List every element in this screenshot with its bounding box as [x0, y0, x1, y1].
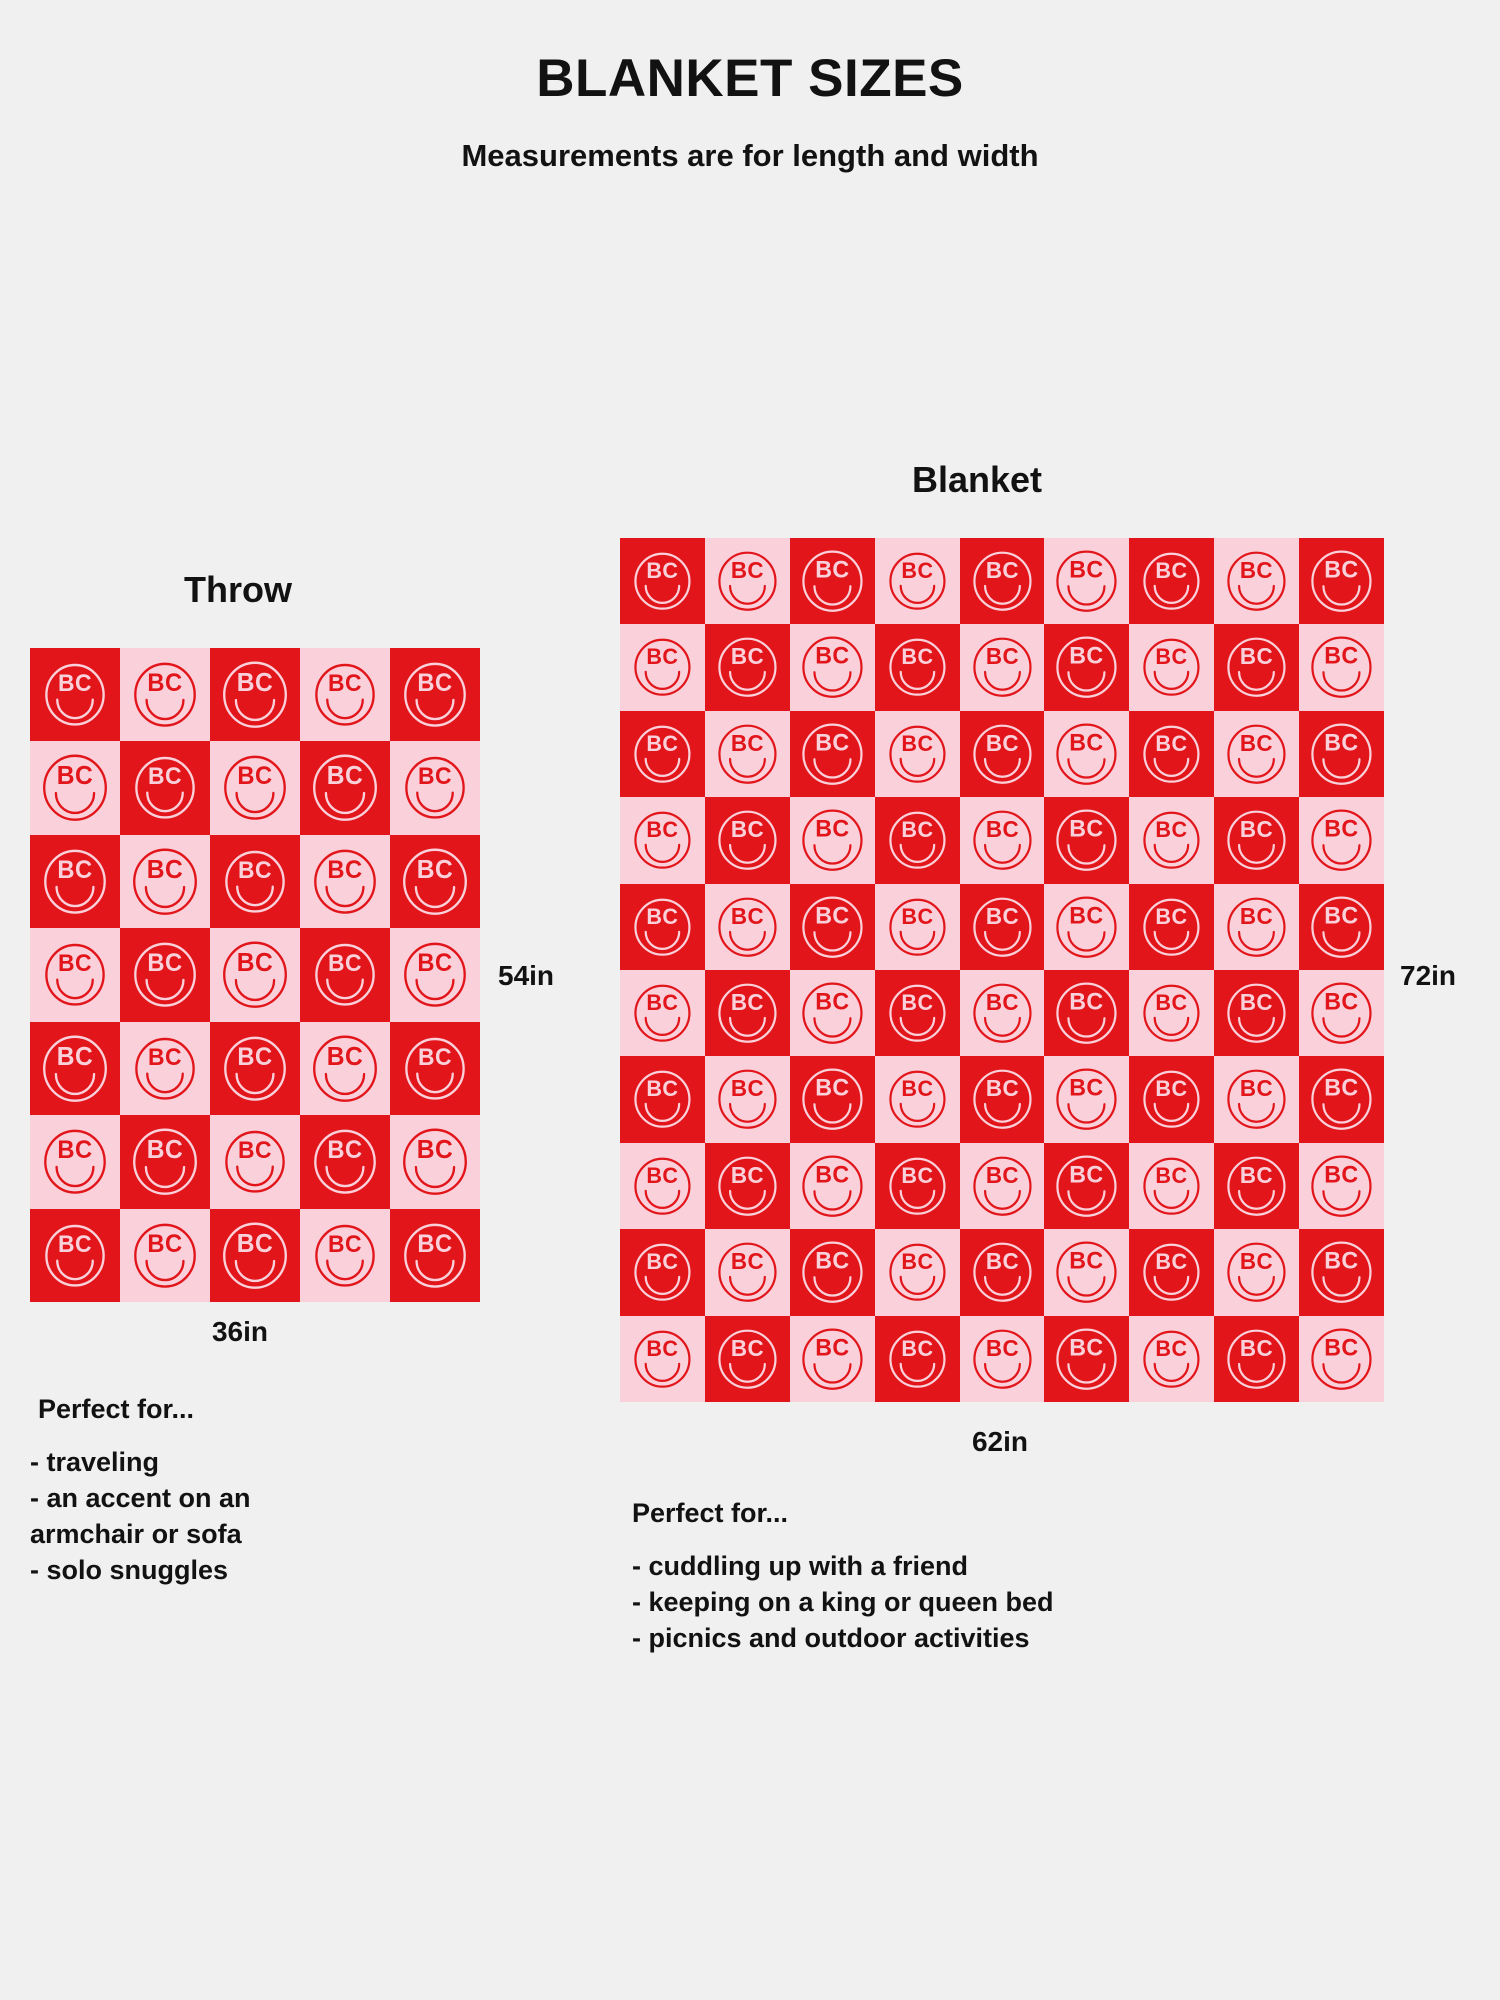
- blanket-tile: BC: [960, 797, 1045, 883]
- motif-label: BC: [1324, 988, 1358, 1014]
- smiley-face-icon: BC: [875, 1143, 960, 1229]
- blanket-tile: BC: [705, 970, 790, 1056]
- motif-label: BC: [1070, 643, 1104, 669]
- motif-label: BC: [901, 558, 933, 583]
- motif-label: BC: [328, 950, 362, 976]
- blanket-tile: BC: [1299, 1316, 1384, 1402]
- smiley-face-icon: BC: [1129, 1229, 1214, 1315]
- smiley-face-icon: BC: [120, 1115, 210, 1208]
- motif-label: BC: [1324, 1075, 1358, 1101]
- motif-label: BC: [731, 1076, 764, 1101]
- smiley-face-icon: BC: [120, 741, 210, 834]
- motif-label: BC: [646, 1249, 678, 1274]
- blanket-tile: BC: [790, 1143, 875, 1229]
- motif-label: BC: [1156, 731, 1188, 756]
- smiley-face-icon: BC: [960, 1316, 1045, 1402]
- smiley-face-icon: BC: [620, 538, 705, 624]
- blanket-tile: BC: [1299, 797, 1384, 883]
- motif-label: BC: [1070, 1075, 1104, 1101]
- motif-label: BC: [238, 1137, 272, 1163]
- blanket-tile: BC: [1044, 797, 1129, 883]
- motif-label: BC: [901, 644, 933, 669]
- smiley-face-icon: BC: [120, 1022, 210, 1115]
- blanket-tile: BC: [960, 1229, 1045, 1315]
- blanket-tile: BC: [705, 1229, 790, 1315]
- blanket-tile: BC: [390, 1022, 480, 1115]
- motif-label: BC: [237, 668, 273, 697]
- blanket-tile: BC: [960, 711, 1045, 797]
- smiley-face-icon: BC: [300, 648, 390, 741]
- smiley-face-icon: BC: [1214, 797, 1299, 883]
- blanket-tile: BC: [1129, 884, 1214, 970]
- smiley-face-icon: BC: [300, 928, 390, 1021]
- blanket-tile: BC: [210, 1115, 300, 1208]
- blanket-tile: BC: [620, 970, 705, 1056]
- blanket-tile: BC: [120, 835, 210, 928]
- smiley-face-icon: BC: [1214, 711, 1299, 797]
- smiley-face-icon: BC: [30, 741, 120, 834]
- smiley-face-icon: BC: [30, 648, 120, 741]
- motif-label: BC: [147, 855, 183, 884]
- motif-label: BC: [58, 950, 92, 976]
- smiley-face-icon: BC: [620, 1056, 705, 1142]
- smiley-face-icon: BC: [30, 1209, 120, 1302]
- smiley-face-icon: BC: [210, 648, 300, 741]
- motif-label: BC: [418, 763, 452, 789]
- smiley-face-icon: BC: [875, 970, 960, 1056]
- blanket-tile: BC: [875, 884, 960, 970]
- smiley-face-icon: BC: [875, 1316, 960, 1402]
- blanket-tile: BC: [875, 797, 960, 883]
- blanket-tile: BC: [1299, 1143, 1384, 1229]
- smiley-face-icon: BC: [705, 538, 790, 624]
- motif-label: BC: [731, 644, 764, 669]
- motif-label: BC: [57, 762, 93, 791]
- smiley-face-icon: BC: [300, 1022, 390, 1115]
- motif-label: BC: [58, 1230, 92, 1256]
- smiley-face-icon: BC: [210, 1209, 300, 1302]
- motif-label: BC: [237, 1043, 272, 1071]
- motif-label: BC: [1324, 1334, 1358, 1360]
- blanket-tile: BC: [300, 741, 390, 834]
- smiley-face-icon: BC: [960, 1229, 1045, 1315]
- blanket-tile: BC: [1299, 970, 1384, 1056]
- blanket-tile: BC: [875, 538, 960, 624]
- blanket-tile: BC: [1129, 1316, 1214, 1402]
- motif-label: BC: [1070, 902, 1104, 928]
- motif-label: BC: [237, 949, 273, 978]
- blanket-tile: BC: [120, 741, 210, 834]
- motif-label: BC: [901, 1163, 933, 1188]
- smiley-face-icon: BC: [1044, 970, 1129, 1056]
- motif-label: BC: [1240, 990, 1273, 1015]
- blanket-tile: BC: [210, 1209, 300, 1302]
- blanket-tile: BC: [705, 1316, 790, 1402]
- blanket-tile: BC: [30, 928, 120, 1021]
- motif-label: BC: [327, 1137, 362, 1164]
- motif-label: BC: [646, 990, 678, 1015]
- smiley-face-icon: BC: [1299, 1056, 1384, 1142]
- throw-width-label: 36in: [0, 1318, 480, 1346]
- smiley-face-icon: BC: [960, 884, 1045, 970]
- blanket-tile: BC: [1214, 1143, 1299, 1229]
- motif-label: BC: [1240, 1335, 1273, 1360]
- blanket-tile: BC: [875, 1143, 960, 1229]
- motif-label: BC: [1240, 644, 1273, 669]
- smiley-face-icon: BC: [705, 797, 790, 883]
- blanket-tile: BC: [960, 1056, 1045, 1142]
- blanket-tile: BC: [705, 797, 790, 883]
- motif-label: BC: [1240, 1076, 1273, 1101]
- motif-label: BC: [646, 644, 678, 669]
- motif-label: BC: [1156, 1249, 1188, 1274]
- blanket-tile: BC: [620, 797, 705, 883]
- motif-label: BC: [147, 670, 182, 697]
- blanket-tile: BC: [30, 1022, 120, 1115]
- blanket-tile: BC: [620, 1143, 705, 1229]
- blanket-tile: BC: [120, 928, 210, 1021]
- motif-label: BC: [815, 816, 849, 842]
- throw-blanket-swatch: BC BC BC BC BC BC BC BC BC: [30, 648, 480, 1302]
- blanket-tile: BC: [300, 1209, 390, 1302]
- motif-label: BC: [731, 1335, 764, 1360]
- blanket-tile: BC: [30, 1115, 120, 1208]
- throw-perfect-for: Perfect for... - traveling - an accent o…: [30, 1396, 251, 1589]
- smiley-face-icon: BC: [960, 1056, 1045, 1142]
- throw-title: Throw: [184, 572, 292, 608]
- blanket-tile: BC: [620, 1056, 705, 1142]
- blanket-tile: BC: [960, 624, 1045, 710]
- motif-label: BC: [1156, 990, 1188, 1015]
- blanket-tile: BC: [1214, 538, 1299, 624]
- motif-label: BC: [646, 1163, 678, 1188]
- motif-label: BC: [815, 988, 849, 1014]
- smiley-face-icon: BC: [210, 741, 300, 834]
- smiley-face-icon: BC: [705, 970, 790, 1056]
- smiley-face-icon: BC: [620, 797, 705, 883]
- motif-label: BC: [901, 1249, 933, 1274]
- motif-label: BC: [327, 762, 363, 791]
- motif-label: BC: [1240, 1249, 1273, 1274]
- smiley-face-icon: BC: [1129, 797, 1214, 883]
- motif-label: BC: [1240, 817, 1273, 842]
- motif-label: BC: [148, 1043, 182, 1069]
- blanket-tile: BC: [790, 538, 875, 624]
- smiley-face-icon: BC: [1214, 970, 1299, 1056]
- blanket-tile: BC: [1214, 797, 1299, 883]
- blanket-tile: BC: [1129, 538, 1214, 624]
- smiley-face-icon: BC: [875, 711, 960, 797]
- smiley-face-icon: BC: [620, 884, 705, 970]
- smiley-face-icon: BC: [390, 1022, 480, 1115]
- blanket-width-label: 62in: [620, 1428, 1380, 1456]
- blanket-tile: BC: [1129, 1143, 1214, 1229]
- smiley-face-icon: BC: [790, 970, 875, 1056]
- smiley-face-icon: BC: [1129, 624, 1214, 710]
- blanket-tile: BC: [705, 624, 790, 710]
- blanket-tile: BC: [960, 1316, 1045, 1402]
- smiley-face-icon: BC: [1044, 624, 1129, 710]
- motif-label: BC: [1070, 1161, 1104, 1187]
- motif-label: BC: [417, 950, 452, 977]
- motif-label: BC: [1156, 903, 1188, 928]
- smiley-face-icon: BC: [1299, 970, 1384, 1056]
- blanket-tile: BC: [1299, 711, 1384, 797]
- smiley-face-icon: BC: [705, 1143, 790, 1229]
- blanket-perfect-for-item: - picnics and outdoor activities: [632, 1621, 1054, 1657]
- blanket-tile: BC: [790, 797, 875, 883]
- smiley-face-icon: BC: [30, 835, 120, 928]
- motif-label: BC: [901, 1335, 933, 1360]
- smiley-face-icon: BC: [705, 1229, 790, 1315]
- motif-label: BC: [1324, 1248, 1358, 1274]
- smiley-face-icon: BC: [1214, 1229, 1299, 1315]
- smiley-face-icon: BC: [1214, 1316, 1299, 1402]
- motif-label: BC: [815, 1161, 849, 1187]
- blanket-tile: BC: [300, 1115, 390, 1208]
- smiley-face-icon: BC: [960, 970, 1045, 1056]
- smiley-face-icon: BC: [390, 1209, 480, 1302]
- smiley-face-icon: BC: [120, 928, 210, 1021]
- blanket-tile: BC: [210, 928, 300, 1021]
- smiley-face-icon: BC: [30, 1115, 120, 1208]
- motif-label: BC: [1070, 816, 1104, 842]
- blanket-tile: BC: [30, 835, 120, 928]
- blanket-tile: BC: [1044, 1316, 1129, 1402]
- smiley-face-icon: BC: [790, 711, 875, 797]
- smiley-face-icon: BC: [1044, 1143, 1129, 1229]
- motif-label: BC: [731, 730, 764, 755]
- smiley-face-icon: BC: [790, 1056, 875, 1142]
- blanket-tile: BC: [30, 1209, 120, 1302]
- smiley-face-icon: BC: [390, 648, 480, 741]
- blanket-tile: BC: [1129, 711, 1214, 797]
- motif-label: BC: [1240, 558, 1273, 583]
- smiley-face-icon: BC: [875, 538, 960, 624]
- smiley-face-icon: BC: [1044, 711, 1129, 797]
- blanket-tile: BC: [1129, 1229, 1214, 1315]
- motif-label: BC: [731, 1249, 764, 1274]
- motif-label: BC: [147, 1136, 183, 1165]
- motif-label: BC: [985, 730, 1018, 755]
- blanket-size-guide: BLANKET SIZES Measurements are for lengt…: [0, 0, 1500, 2000]
- smiley-face-icon: BC: [620, 711, 705, 797]
- blanket-swatch: BC BC BC BC BC BC BC BC BC: [620, 538, 1384, 1402]
- smiley-face-icon: BC: [300, 1209, 390, 1302]
- blanket-tile: BC: [1214, 970, 1299, 1056]
- blanket-tile: BC: [790, 884, 875, 970]
- motif-label: BC: [417, 1230, 452, 1258]
- motif-label: BC: [417, 1136, 453, 1165]
- motif-label: BC: [985, 1335, 1018, 1360]
- smiley-face-icon: BC: [210, 928, 300, 1021]
- blanket-tile: BC: [1299, 884, 1384, 970]
- blanket-tile: BC: [300, 648, 390, 741]
- blanket-tile: BC: [1044, 711, 1129, 797]
- motif-label: BC: [328, 1230, 362, 1256]
- smiley-face-icon: BC: [1299, 624, 1384, 710]
- motif-label: BC: [1324, 556, 1358, 582]
- smiley-face-icon: BC: [705, 1316, 790, 1402]
- smiley-face-icon: BC: [790, 1229, 875, 1315]
- blanket-tile: BC: [620, 538, 705, 624]
- smiley-face-icon: BC: [790, 1143, 875, 1229]
- motif-label: BC: [328, 670, 362, 696]
- blanket-tile: BC: [1214, 1056, 1299, 1142]
- blanket-tile: BC: [1299, 1056, 1384, 1142]
- blanket-tile: BC: [1044, 970, 1129, 1056]
- blanket-tile: BC: [210, 741, 300, 834]
- blanket-tile: BC: [1044, 1056, 1129, 1142]
- motif-label: BC: [57, 856, 92, 884]
- smiley-face-icon: BC: [790, 1316, 875, 1402]
- motif-label: BC: [1070, 556, 1104, 582]
- blanket-tile: BC: [300, 1022, 390, 1115]
- blanket-perfect-for-item: - keeping on a king or queen bed: [632, 1585, 1054, 1621]
- page-subtitle: Measurements are for length and width: [0, 140, 1500, 171]
- smiley-face-icon: BC: [960, 624, 1045, 710]
- motif-label: BC: [815, 643, 849, 669]
- blanket-tile: BC: [390, 741, 480, 834]
- blanket-tile: BC: [960, 884, 1045, 970]
- motif-label: BC: [731, 903, 764, 928]
- motif-label: BC: [815, 902, 849, 928]
- motif-label: BC: [646, 558, 678, 583]
- smiley-face-icon: BC: [705, 624, 790, 710]
- smiley-face-icon: BC: [875, 624, 960, 710]
- smiley-face-icon: BC: [1044, 1056, 1129, 1142]
- motif-label: BC: [985, 644, 1018, 669]
- smiley-face-icon: BC: [1129, 1316, 1214, 1402]
- smiley-face-icon: BC: [1214, 884, 1299, 970]
- smiley-face-icon: BC: [120, 835, 210, 928]
- blanket-tile: BC: [1044, 1143, 1129, 1229]
- motif-label: BC: [985, 1162, 1018, 1187]
- blanket-tile: BC: [705, 884, 790, 970]
- blanket-tile: BC: [705, 711, 790, 797]
- smiley-face-icon: BC: [1129, 970, 1214, 1056]
- smiley-face-icon: BC: [1129, 711, 1214, 797]
- smiley-face-icon: BC: [1299, 1143, 1384, 1229]
- motif-label: BC: [1070, 729, 1104, 755]
- blanket-tile: BC: [790, 1229, 875, 1315]
- motif-label: BC: [985, 1076, 1018, 1101]
- blanket-tile: BC: [1129, 1056, 1214, 1142]
- smiley-face-icon: BC: [30, 1022, 120, 1115]
- smiley-face-icon: BC: [620, 1143, 705, 1229]
- blanket-tile: BC: [1129, 797, 1214, 883]
- smiley-face-icon: BC: [1129, 1143, 1214, 1229]
- smiley-face-icon: BC: [1214, 1143, 1299, 1229]
- motif-label: BC: [731, 1162, 764, 1187]
- blanket-tile: BC: [1044, 884, 1129, 970]
- blanket-tile: BC: [790, 970, 875, 1056]
- motif-label: BC: [815, 1248, 849, 1274]
- blanket-tile: BC: [790, 711, 875, 797]
- blanket-tile: BC: [1214, 1229, 1299, 1315]
- blanket-tile: BC: [790, 1056, 875, 1142]
- blanket-tile: BC: [960, 970, 1045, 1056]
- smiley-face-icon: BC: [1129, 1056, 1214, 1142]
- smiley-face-icon: BC: [875, 797, 960, 883]
- blanket-tile: BC: [1214, 884, 1299, 970]
- motif-label: BC: [1240, 903, 1273, 928]
- smiley-face-icon: BC: [875, 1229, 960, 1315]
- smiley-face-icon: BC: [620, 624, 705, 710]
- blanket-tile: BC: [620, 884, 705, 970]
- motif-label: BC: [985, 1249, 1018, 1274]
- smiley-face-icon: BC: [790, 884, 875, 970]
- blanket-tile: BC: [1214, 711, 1299, 797]
- blanket-tile: BC: [620, 711, 705, 797]
- blanket-tile: BC: [1299, 624, 1384, 710]
- blanket-height-label: 72in: [1400, 962, 1456, 990]
- motif-label: BC: [1324, 643, 1358, 669]
- smiley-face-icon: BC: [390, 1115, 480, 1208]
- blanket-perfect-for: Perfect for... - cuddling up with a frie…: [632, 1500, 1054, 1657]
- smiley-face-icon: BC: [120, 648, 210, 741]
- smiley-face-icon: BC: [705, 884, 790, 970]
- blanket-tile: BC: [790, 624, 875, 710]
- motif-label: BC: [646, 1335, 678, 1360]
- smiley-face-icon: BC: [1299, 797, 1384, 883]
- blanket-tile: BC: [620, 1229, 705, 1315]
- smiley-face-icon: BC: [120, 1209, 210, 1302]
- motif-label: BC: [901, 1076, 933, 1101]
- smiley-face-icon: BC: [1129, 884, 1214, 970]
- throw-perfect-for-item: - traveling: [30, 1445, 251, 1481]
- smiley-face-icon: BC: [960, 711, 1045, 797]
- blanket-tile: BC: [1044, 624, 1129, 710]
- smiley-face-icon: BC: [1214, 538, 1299, 624]
- blanket-tile: BC: [30, 741, 120, 834]
- smiley-face-icon: BC: [1044, 884, 1129, 970]
- motif-label: BC: [646, 731, 678, 756]
- smiley-face-icon: BC: [875, 884, 960, 970]
- blanket-tile: BC: [390, 835, 480, 928]
- smiley-face-icon: BC: [1044, 797, 1129, 883]
- motif-label: BC: [901, 817, 933, 842]
- blanket-tile: BC: [705, 1143, 790, 1229]
- smiley-face-icon: BC: [300, 835, 390, 928]
- smiley-face-icon: BC: [1299, 1316, 1384, 1402]
- motif-label: BC: [327, 856, 362, 884]
- smiley-face-icon: BC: [705, 1056, 790, 1142]
- motif-label: BC: [417, 670, 452, 697]
- smiley-face-icon: BC: [210, 1022, 300, 1115]
- motif-label: BC: [1240, 730, 1273, 755]
- blanket-tile: BC: [390, 1115, 480, 1208]
- smiley-face-icon: BC: [1214, 1056, 1299, 1142]
- blanket-tile: BC: [705, 538, 790, 624]
- motif-label: BC: [147, 1230, 182, 1258]
- motif-label: BC: [731, 558, 764, 583]
- motif-label: BC: [1070, 1248, 1104, 1274]
- smiley-face-icon: BC: [1044, 1316, 1129, 1402]
- blanket-tile: BC: [1129, 970, 1214, 1056]
- motif-label: BC: [985, 817, 1018, 842]
- motif-label: BC: [1156, 817, 1188, 842]
- smiley-face-icon: BC: [790, 797, 875, 883]
- throw-perfect-for-item: - solo snuggles: [30, 1553, 251, 1589]
- throw-perfect-for-heading: Perfect for...: [30, 1396, 251, 1423]
- blanket-tile: BC: [390, 1209, 480, 1302]
- blanket-tile: BC: [120, 1115, 210, 1208]
- blanket-tile: BC: [210, 835, 300, 928]
- blanket-tile: BC: [1044, 1229, 1129, 1315]
- motif-label: BC: [815, 729, 849, 755]
- blanket-perfect-for-heading: Perfect for...: [632, 1500, 1054, 1527]
